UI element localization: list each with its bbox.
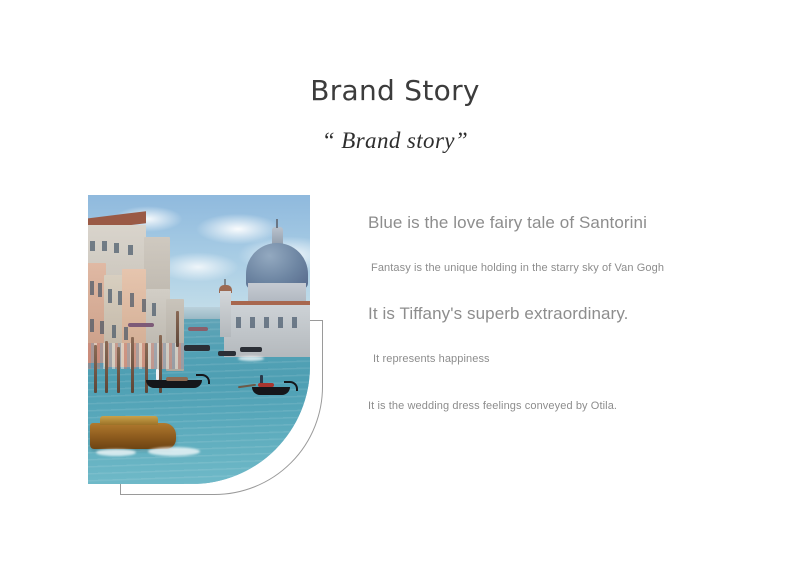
- window: [278, 317, 283, 328]
- distant-boat: [188, 327, 208, 331]
- water-taxi: [90, 423, 176, 449]
- taxi-canopy: [100, 416, 158, 425]
- distant-boat: [240, 347, 262, 352]
- story-line-4: It represents happiness: [373, 352, 490, 367]
- story-line-2: Fantasy is the unique holding in the sta…: [371, 261, 664, 276]
- boat-wake: [148, 447, 200, 456]
- mooring-pole: [105, 341, 108, 393]
- photo-canvas: [88, 195, 310, 484]
- story-line-5: It is the wedding dress feelings conveye…: [368, 399, 617, 414]
- window: [90, 241, 95, 251]
- boat-wake: [96, 449, 136, 456]
- gondolier: [156, 369, 159, 380]
- window: [102, 241, 107, 251]
- window: [100, 321, 104, 334]
- window: [142, 299, 146, 312]
- window: [108, 289, 112, 303]
- window: [112, 325, 116, 338]
- venice-photo: [88, 195, 310, 484]
- gondola: [146, 380, 202, 388]
- distant-boat: [128, 323, 154, 327]
- gondola-seat: [258, 383, 274, 387]
- page-subtitle: “ Brand story”: [0, 127, 790, 155]
- gondola-seat: [166, 377, 188, 381]
- window: [90, 281, 94, 295]
- basilica-body: [224, 305, 310, 357]
- window: [250, 317, 255, 328]
- window: [98, 283, 102, 297]
- distant-boat: [218, 351, 236, 356]
- window: [90, 319, 94, 332]
- page-title: Brand Story: [0, 74, 790, 108]
- mooring-pole: [131, 337, 134, 393]
- window: [152, 303, 156, 316]
- story-line-3: It is Tiffany's superb extraordinary.: [368, 303, 628, 325]
- window: [124, 327, 128, 340]
- mooring-pole: [94, 345, 97, 393]
- window: [114, 243, 119, 253]
- canal-side-crowd: [88, 343, 184, 369]
- gondola: [252, 387, 290, 395]
- campanile-tower: [220, 291, 231, 337]
- boat-wake: [238, 356, 264, 361]
- campanile: [218, 279, 233, 337]
- mooring-pole: [176, 311, 179, 347]
- brand-story-page: Brand Story “ Brand story”: [0, 0, 790, 565]
- window: [264, 317, 269, 328]
- mooring-pole: [117, 347, 120, 393]
- window: [118, 291, 122, 305]
- window: [128, 245, 133, 255]
- window: [236, 317, 241, 328]
- window: [292, 317, 297, 328]
- story-line-1: Blue is the love fairy tale of Santorini: [368, 212, 647, 234]
- distant-boat: [184, 345, 210, 351]
- window: [130, 293, 134, 307]
